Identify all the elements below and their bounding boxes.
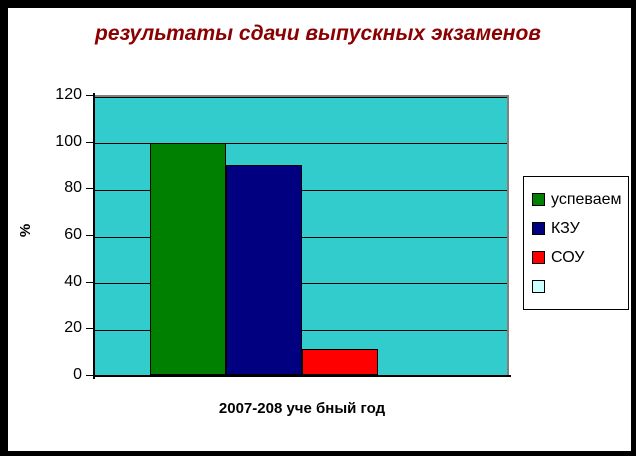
y-axis-line (93, 93, 95, 379)
chart-title: результаты сдачи выпускных экзаменов (8, 22, 628, 46)
legend-swatch-icon (532, 251, 545, 264)
chart-image: результаты сдачи выпускных экзаменов 120… (0, 0, 636, 456)
gridline (95, 97, 507, 98)
bar-КЗУ (226, 165, 302, 375)
legend-item: КЗУ (532, 214, 628, 243)
image-border-bottom (0, 451, 636, 456)
legend-item: успеваем (532, 185, 628, 214)
image-border-top (0, 0, 636, 8)
y-axis-tick-label: 120 (36, 87, 82, 103)
y-axis-tick-label: 0 (36, 367, 82, 383)
image-border-left (0, 0, 8, 456)
y-axis-tick-label: 60 (36, 227, 82, 243)
legend-label: СОУ (551, 249, 584, 267)
legend: успеваемКЗУСОУ (523, 176, 629, 310)
y-axis-tick-label: 20 (36, 320, 82, 336)
legend-label: успеваем (551, 191, 622, 209)
y-axis-tick (86, 188, 94, 189)
y-axis-tick (86, 95, 94, 96)
bar-успеваем (150, 143, 226, 375)
y-axis-tick (86, 142, 94, 143)
legend-swatch-icon (532, 193, 545, 206)
legend-item (532, 272, 628, 301)
legend-label: КЗУ (551, 220, 580, 238)
plot-area (95, 95, 509, 375)
legend-item: СОУ (532, 243, 628, 272)
y-axis-tick (86, 235, 94, 236)
y-axis-tick (86, 282, 94, 283)
legend-swatch-icon (532, 222, 545, 235)
legend-swatch-icon (532, 280, 545, 293)
y-axis-tick-labels: 120100806040200 (30, 0, 82, 456)
bar-СОУ (302, 349, 378, 375)
y-axis-tick-label: 100 (36, 134, 82, 150)
y-axis-title: % (17, 224, 34, 237)
y-axis-tick-label: 80 (36, 180, 82, 196)
image-border-right (631, 0, 636, 456)
x-axis-title: 2007-208 уче бный год (95, 400, 509, 417)
y-axis-tick (86, 375, 94, 376)
y-axis-tick (86, 328, 94, 329)
y-axis-tick-label: 40 (36, 274, 82, 290)
x-axis-line (93, 375, 511, 377)
